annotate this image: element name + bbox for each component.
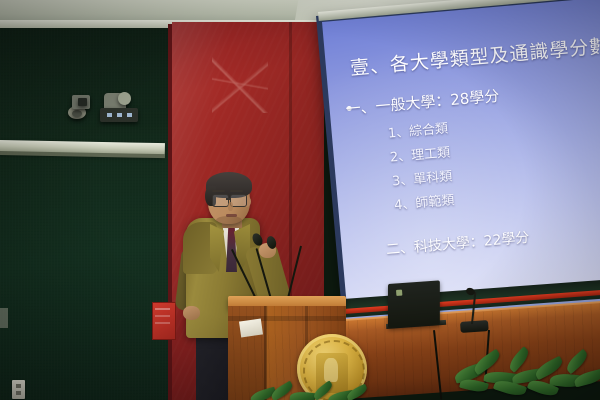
projection-screen: 壹、各大學類型及通識學分數 一、一般大學：28學分 1、綜合類 2、理工類 3、… [322, 0, 600, 307]
foreground-plant-right [454, 352, 600, 400]
laptop-logo [396, 290, 402, 296]
camera-lens-icon [78, 98, 87, 106]
camera-mount-inner [72, 110, 82, 117]
device-led [117, 113, 122, 117]
lecture-hall-photo: 壹、各大學類型及通識學分數 一、一般大學：28學分 1、綜合類 2、理工類 3、… [0, 0, 600, 400]
table-microphone-base [460, 320, 489, 333]
plant-leaf [564, 349, 591, 375]
plant-leaf [573, 369, 600, 388]
outlet-slot [16, 391, 21, 395]
glasses-icon [212, 194, 229, 207]
wall-outlet-icon [12, 380, 25, 399]
laptop-icon [388, 280, 440, 328]
foreground-plant-left [250, 384, 370, 400]
plant-leaf [345, 384, 369, 400]
red-box-line [155, 315, 170, 317]
emblem-figure [324, 358, 338, 382]
speaker-left-hand [183, 306, 200, 320]
speaker-eyebrow [212, 190, 225, 192]
red-box-line [155, 322, 170, 324]
speaker-nose [228, 202, 233, 211]
camera-dome-icon [118, 92, 131, 105]
outlet-slot [16, 384, 21, 388]
plant-leaf [290, 391, 317, 400]
speaker-eyebrow [230, 190, 243, 192]
glasses-bridge [226, 198, 231, 200]
papers-on-podium [239, 319, 263, 338]
wall-plate [0, 308, 8, 328]
wall-shading [0, 28, 186, 138]
red-box-line [155, 308, 170, 310]
speaker-chin-shadow [216, 216, 242, 224]
device-led [127, 113, 132, 117]
device-led [107, 113, 112, 117]
